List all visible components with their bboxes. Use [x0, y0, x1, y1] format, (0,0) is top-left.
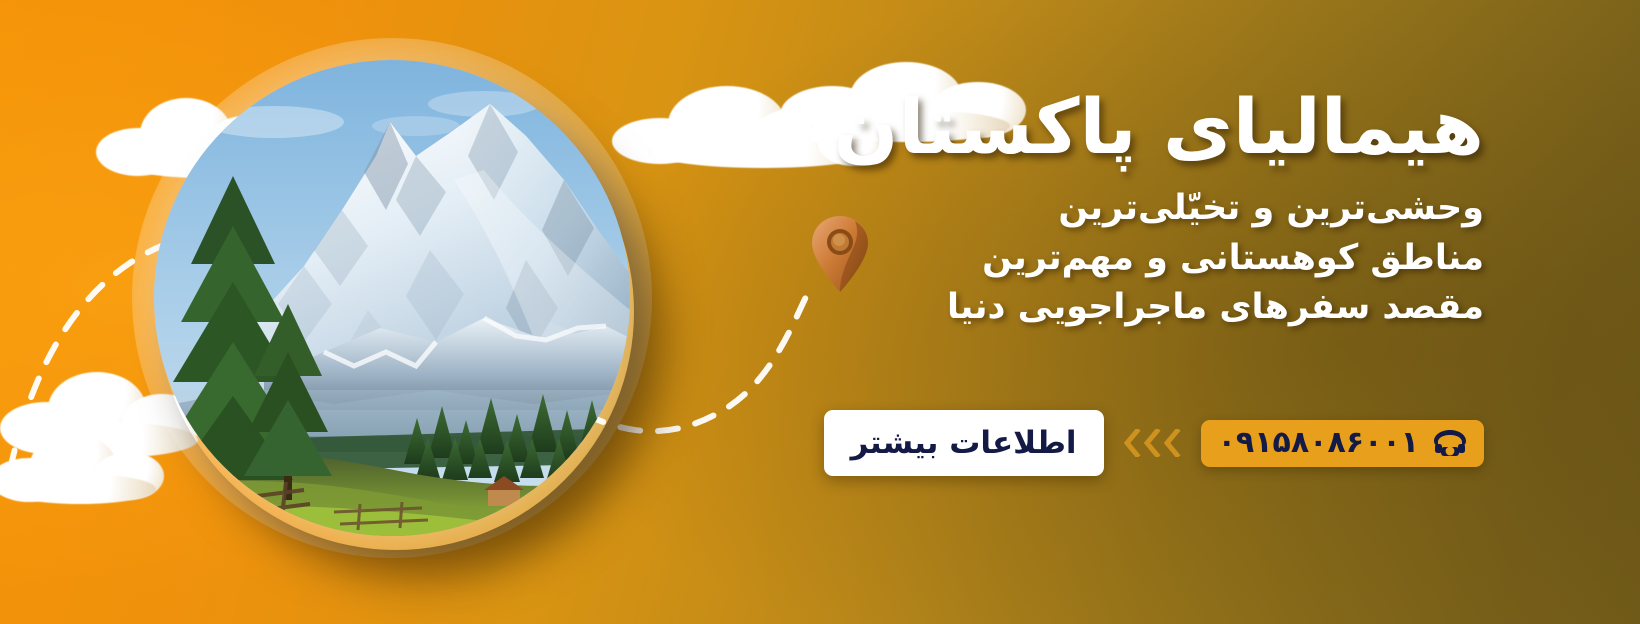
chevron-left-icon — [1124, 429, 1141, 457]
more-info-button[interactable]: اطلاعات بیشتر — [824, 410, 1104, 476]
mountain-illustration — [154, 60, 630, 536]
chevron-left-icon — [1144, 429, 1161, 457]
hero-photo — [154, 60, 630, 536]
phone-number: ۰۹۱۵۸۰۸۶۰۰۱ — [1218, 428, 1419, 458]
action-row: اطلاعات بیشتر ۰۹۱۵۸۰۸۶۰۰۱ — [824, 410, 1484, 476]
promo-banner: هیمالیای پاکستان وحشی‌ترین و تخیّلی‌ترین… — [0, 0, 1640, 624]
subtitle-line-1: وحشی‌ترین و تخیّلی‌ترین — [764, 184, 1484, 234]
page-title: هیمالیای پاکستان — [764, 86, 1484, 168]
mountain-photo-circle — [154, 60, 630, 536]
subtitle-line-3: مقصد سفرهای ماجراجویی دنیا — [764, 283, 1484, 333]
chevron-group — [1124, 429, 1181, 457]
telephone-icon — [1433, 429, 1467, 457]
subtitle-line-2: مناطق کوهستانی و مهم‌ترین — [764, 234, 1484, 284]
cloud-bottom-left-2 — [0, 432, 170, 504]
phone-badge[interactable]: ۰۹۱۵۸۰۸۶۰۰۱ — [1201, 420, 1484, 467]
chevron-left-icon — [1164, 429, 1181, 457]
copy-block: هیمالیای پاکستان وحشی‌ترین و تخیّلی‌ترین… — [764, 86, 1484, 333]
